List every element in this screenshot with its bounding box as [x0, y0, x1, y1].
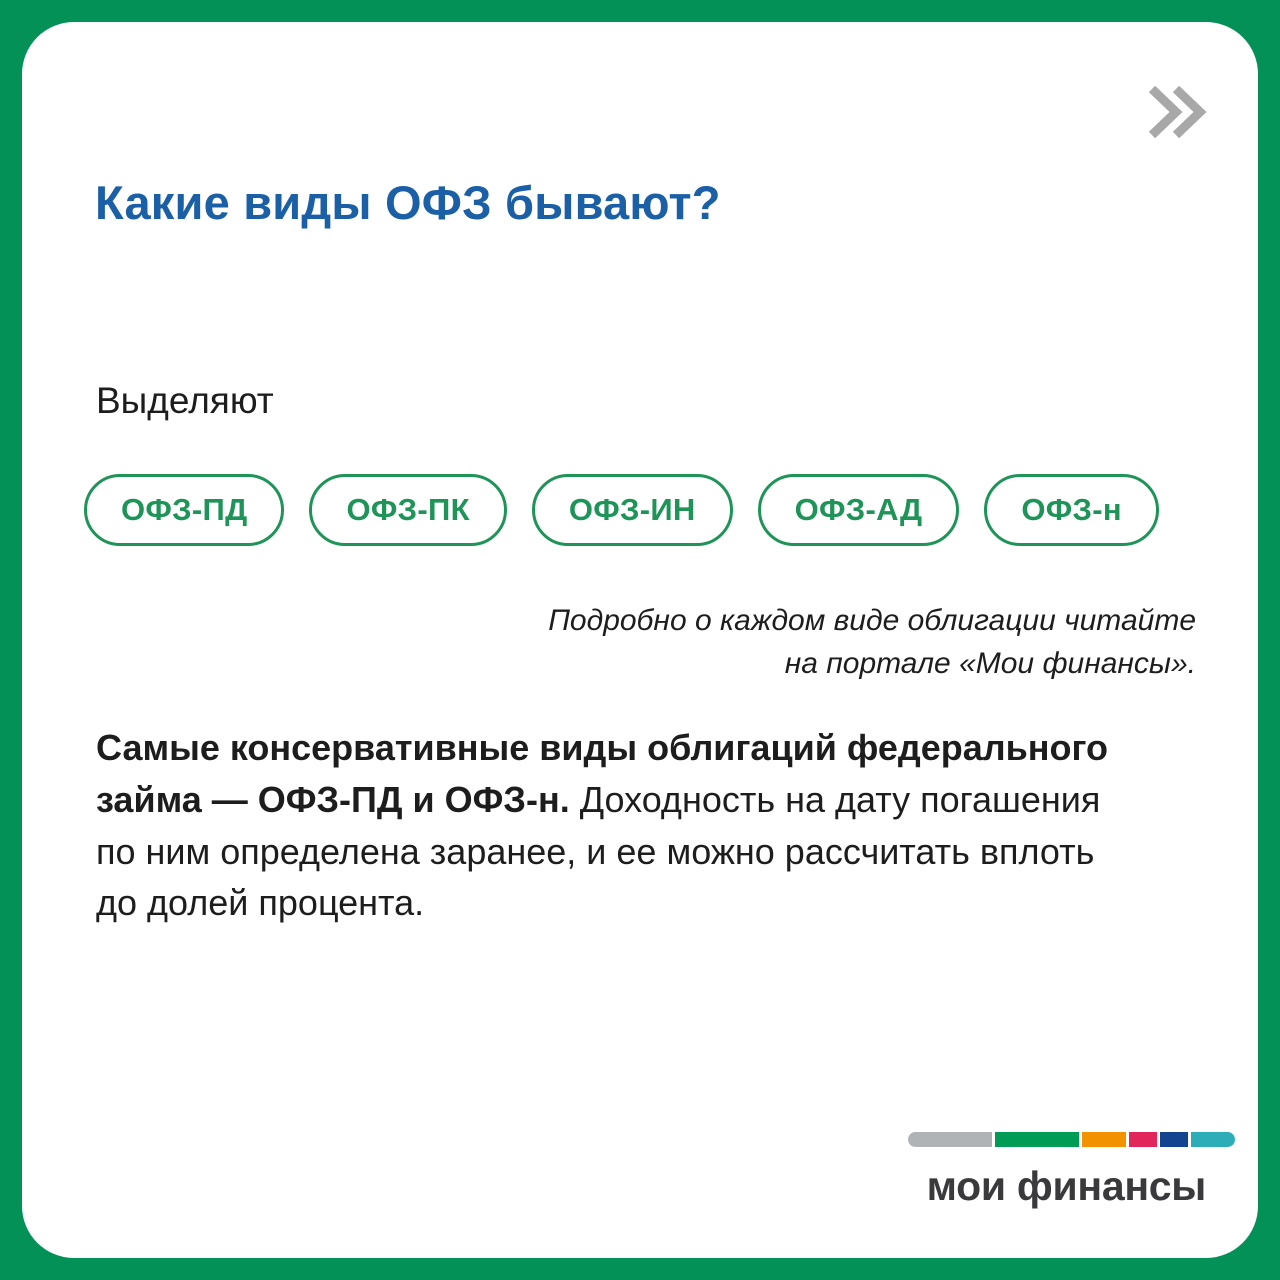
brand-logo-segment	[1082, 1132, 1126, 1147]
brand-logo-segment	[1191, 1132, 1235, 1147]
body-copy: Самые консервативные виды облигаций феде…	[96, 722, 1126, 929]
portal-note-line-2: на портале «Мои финансы».	[336, 643, 1196, 686]
brand-logo: мои финансы	[908, 1132, 1206, 1210]
ofz-type-pill-list: ОФЗ-ПД ОФЗ-ПК ОФЗ-ИН ОФЗ-АД ОФЗ-н	[84, 474, 1159, 546]
ofz-type-pill-label: ОФЗ-ПК	[346, 492, 469, 528]
ofz-type-pill[interactable]: ОФЗ-ПД	[84, 474, 284, 546]
slide-root: Какие виды ОФЗ бывают? Выделяют ОФЗ-ПД О…	[0, 0, 1280, 1280]
double-chevron-right-icon[interactable]	[1140, 77, 1210, 147]
brand-logo-segment	[995, 1132, 1079, 1147]
ofz-type-pill-label: ОФЗ-АД	[795, 492, 923, 528]
portal-note: Подробно о каждом виде облигации читайте…	[336, 600, 1196, 685]
portal-note-line-1: Подробно о каждом виде облигации читайте	[336, 600, 1196, 643]
ofz-type-pill[interactable]: ОФЗ-АД	[758, 474, 960, 546]
brand-logo-bar	[908, 1132, 1206, 1147]
brand-logo-segment	[908, 1132, 992, 1147]
ofz-type-pill-label: ОФЗ-ИН	[569, 492, 696, 528]
brand-logo-segment	[1160, 1132, 1188, 1147]
ofz-type-pill-label: ОФЗ-ПД	[121, 492, 247, 528]
brand-logo-word: мои финансы	[908, 1163, 1206, 1210]
lead-label: Выделяют	[96, 380, 274, 422]
page-title: Какие виды ОФЗ бывают?	[95, 175, 721, 230]
content-card: Какие виды ОФЗ бывают? Выделяют ОФЗ-ПД О…	[22, 22, 1258, 1258]
ofz-type-pill[interactable]: ОФЗ-н	[984, 474, 1159, 546]
brand-logo-segment	[1129, 1132, 1157, 1147]
ofz-type-pill-label: ОФЗ-н	[1021, 492, 1122, 528]
ofz-type-pill[interactable]: ОФЗ-ИН	[532, 474, 733, 546]
ofz-type-pill[interactable]: ОФЗ-ПК	[309, 474, 506, 546]
